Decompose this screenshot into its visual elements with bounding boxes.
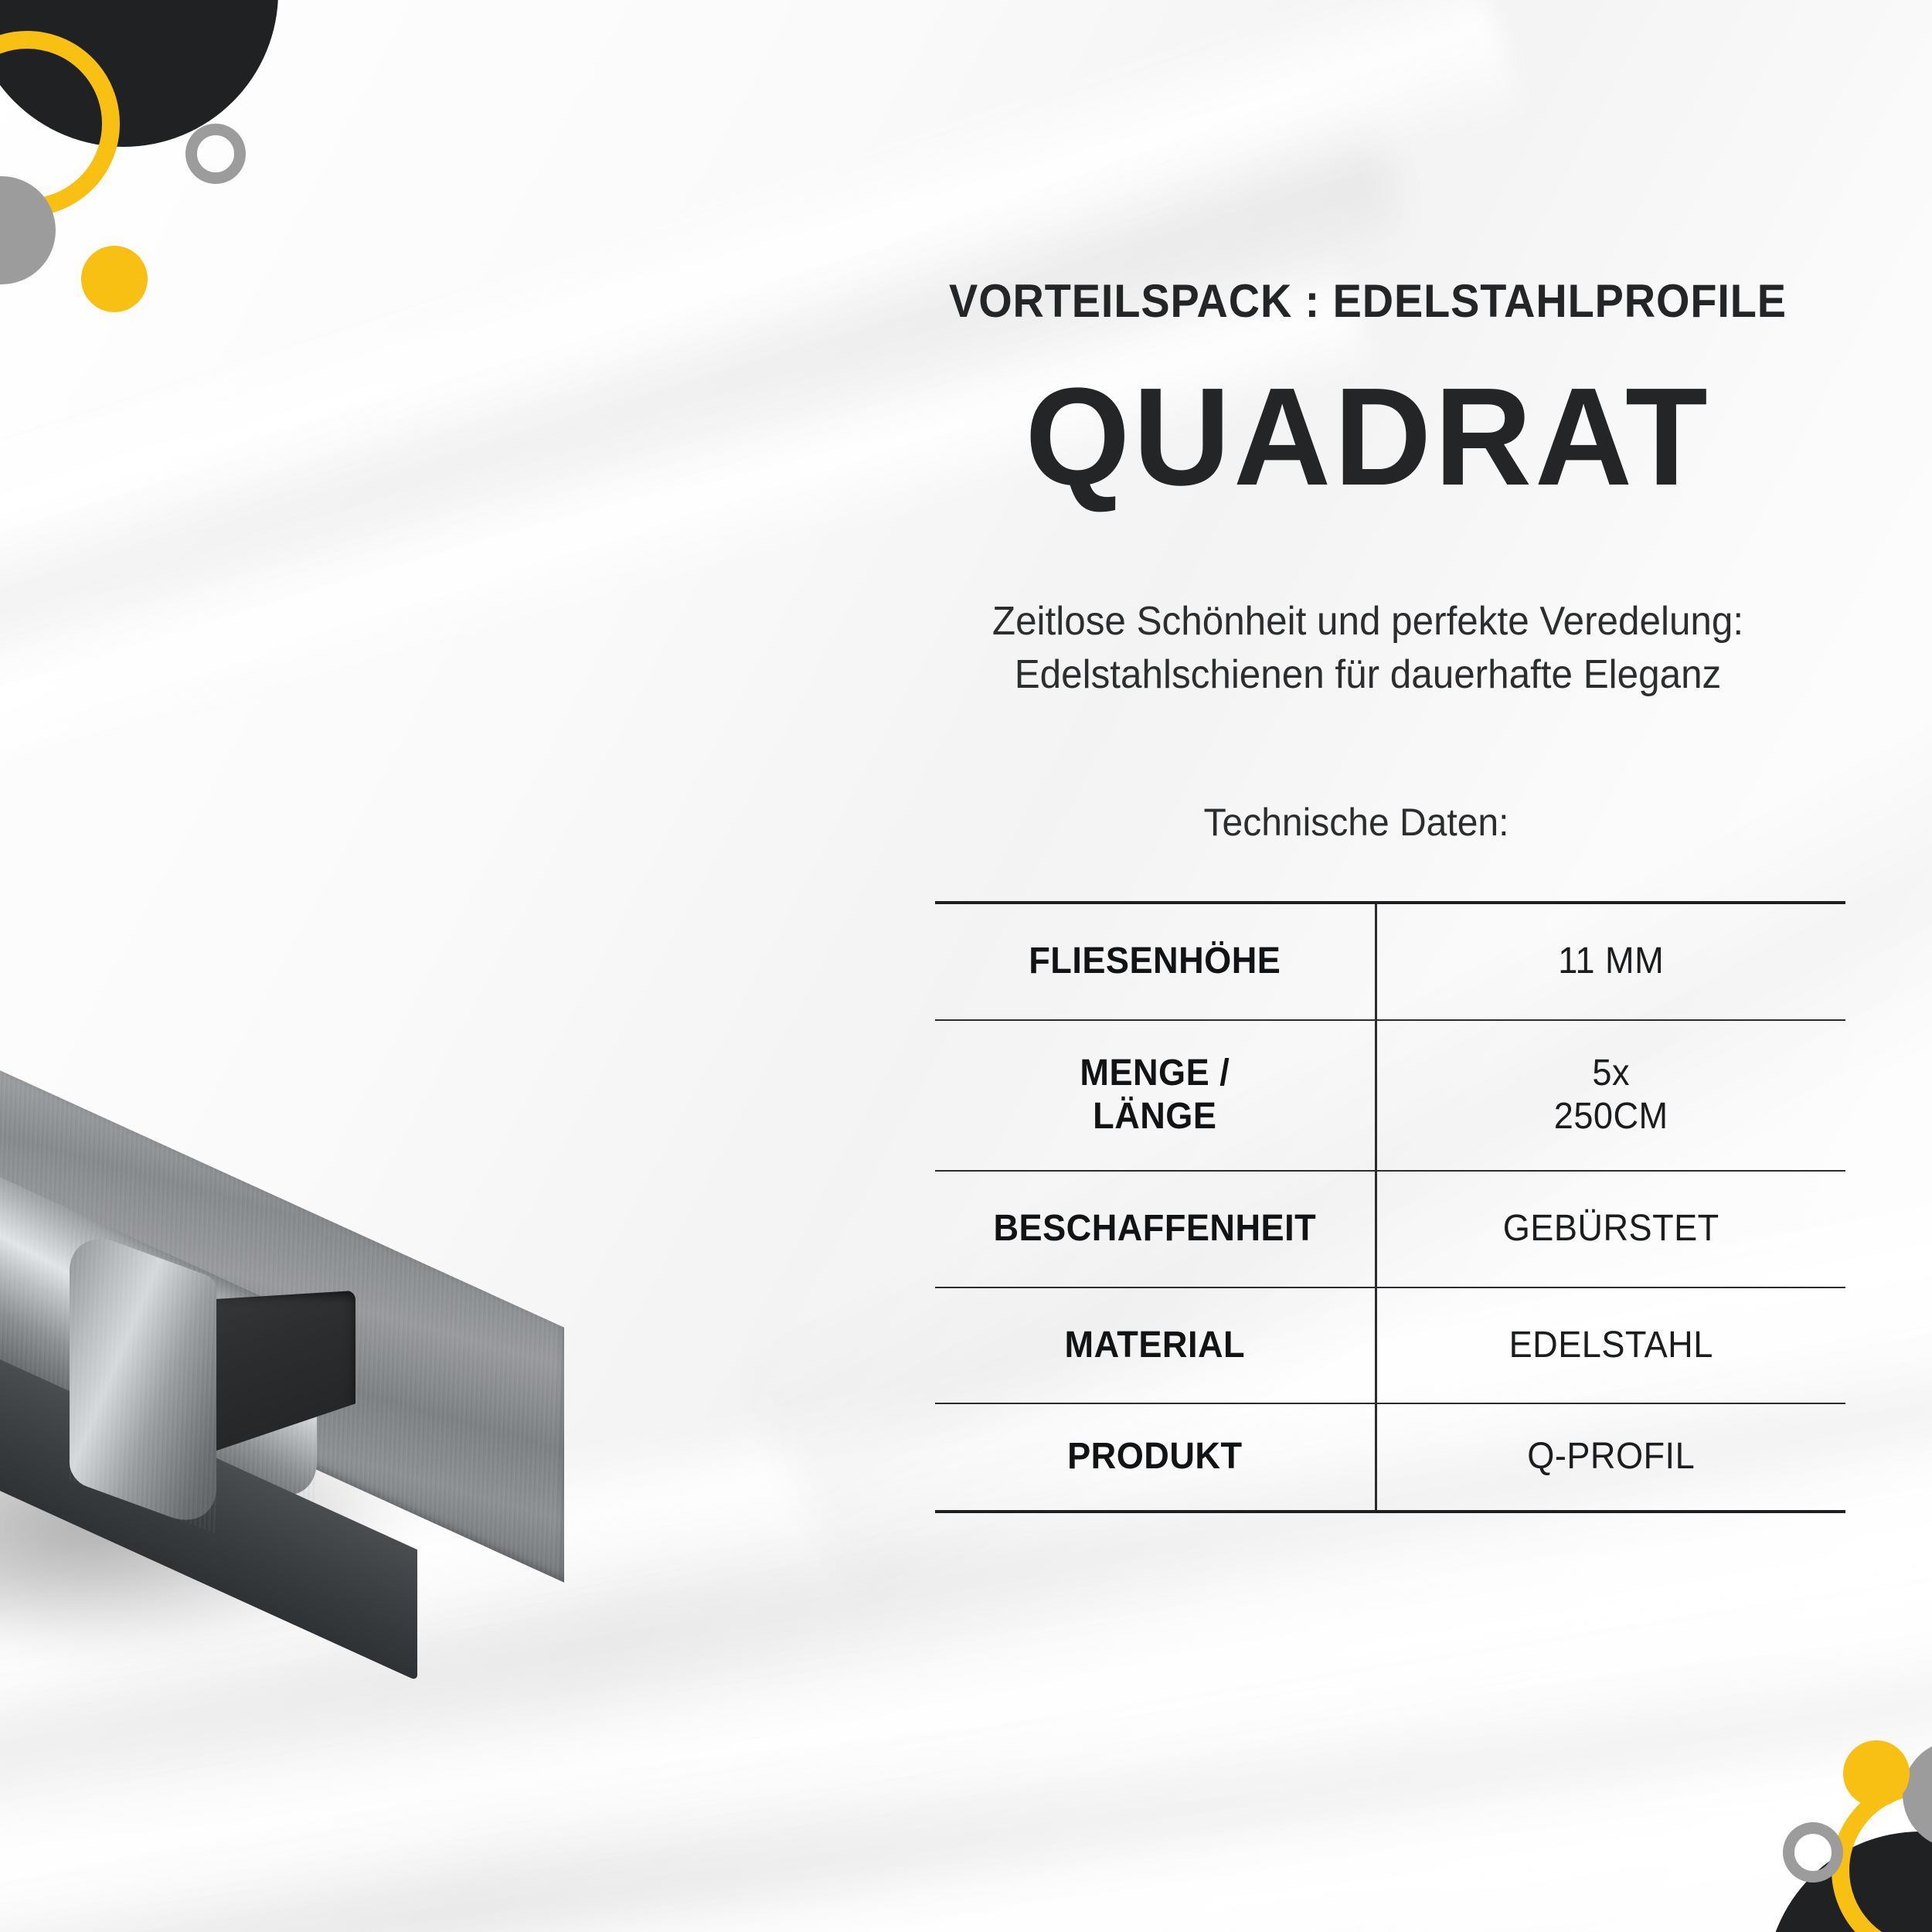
spec-key-material: MATERIAL bbox=[948, 1288, 1361, 1403]
spec-value-menge-line2: 250CM bbox=[1554, 1096, 1668, 1137]
technical-data-table: FLIESENHÖHE 11 MM MENGE / LÄNGE 5x 250CM bbox=[935, 901, 1845, 1513]
product-banner: VORTEILSPACK : EDELSTAHLPROFILE QUADRAT … bbox=[0, 0, 1932, 1932]
spec-value-menge-laenge: 5x 250CM bbox=[1391, 1021, 1832, 1170]
spec-key-menge-line1: MENGE / bbox=[1080, 1053, 1230, 1094]
subtitle-line-2: Edelstahlschienen für dauerhafte Eleganz bbox=[913, 648, 1823, 702]
brushed-texture-lip bbox=[70, 1225, 216, 1533]
spec-key-cell: MATERIAL bbox=[948, 1287, 1362, 1404]
spec-value-cell: GEBÜRSTET bbox=[1389, 1171, 1832, 1287]
spec-key-cell: MENGE / LÄNGE bbox=[948, 1020, 1362, 1171]
spec-key-fliesenhoehe: FLIESENHÖHE bbox=[948, 904, 1361, 1019]
spec-key-beschaffenheit: BESCHAFFENHEIT bbox=[948, 1172, 1361, 1287]
table-row: PRODUKT Q-PROFIL bbox=[935, 1403, 1845, 1512]
spec-key-cell: BESCHAFFENHEIT bbox=[948, 1171, 1362, 1287]
table-row: MATERIAL EDELSTAHL bbox=[935, 1287, 1845, 1404]
spec-value-cell: 11 MM bbox=[1389, 903, 1832, 1020]
spec-value-beschaffenheit: GEBÜRSTET bbox=[1391, 1172, 1832, 1287]
page-title: QUADRAT bbox=[858, 371, 1877, 503]
spec-value-menge-line1: 5x bbox=[1592, 1053, 1630, 1094]
spec-value-cell: Q-PROFIL bbox=[1389, 1403, 1832, 1512]
table-row: BESCHAFFENHEIT GEBÜRSTET bbox=[935, 1171, 1845, 1287]
spec-value-cell: 5x 250CM bbox=[1389, 1020, 1832, 1171]
spec-value-material: EDELSTAHL bbox=[1391, 1288, 1832, 1403]
spec-key-produkt: PRODUKT bbox=[948, 1404, 1361, 1510]
spec-value-produkt: Q-PROFIL bbox=[1391, 1404, 1832, 1510]
eyebrow-text: VORTEILSPACK : EDELSTAHLPROFILE bbox=[879, 274, 1857, 328]
spec-value-cell: EDELSTAHL bbox=[1389, 1287, 1832, 1404]
spec-value-fliesenhoehe: 11 MM bbox=[1391, 904, 1832, 1019]
steel-rolled-lip bbox=[70, 1225, 216, 1533]
table-row: FLIESENHÖHE 11 MM bbox=[935, 903, 1845, 1020]
spec-key-menge-laenge: MENGE / LÄNGE bbox=[948, 1021, 1361, 1170]
spec-key-cell: FLIESENHÖHE bbox=[948, 903, 1362, 1020]
table-row: MENGE / LÄNGE 5x 250CM bbox=[935, 1020, 1845, 1171]
spec-key-cell: PRODUKT bbox=[948, 1403, 1362, 1512]
subtitle-text: Zeitlose Schönheit und perfekte Veredelu… bbox=[913, 595, 1823, 701]
product-image bbox=[0, 819, 611, 1716]
tech-data-label: Technische Daten: bbox=[863, 800, 1850, 845]
spec-key-menge-line2: LÄNGE bbox=[1093, 1096, 1216, 1137]
subtitle-line-1: Zeitlose Schönheit und perfekte Veredelu… bbox=[913, 595, 1823, 648]
